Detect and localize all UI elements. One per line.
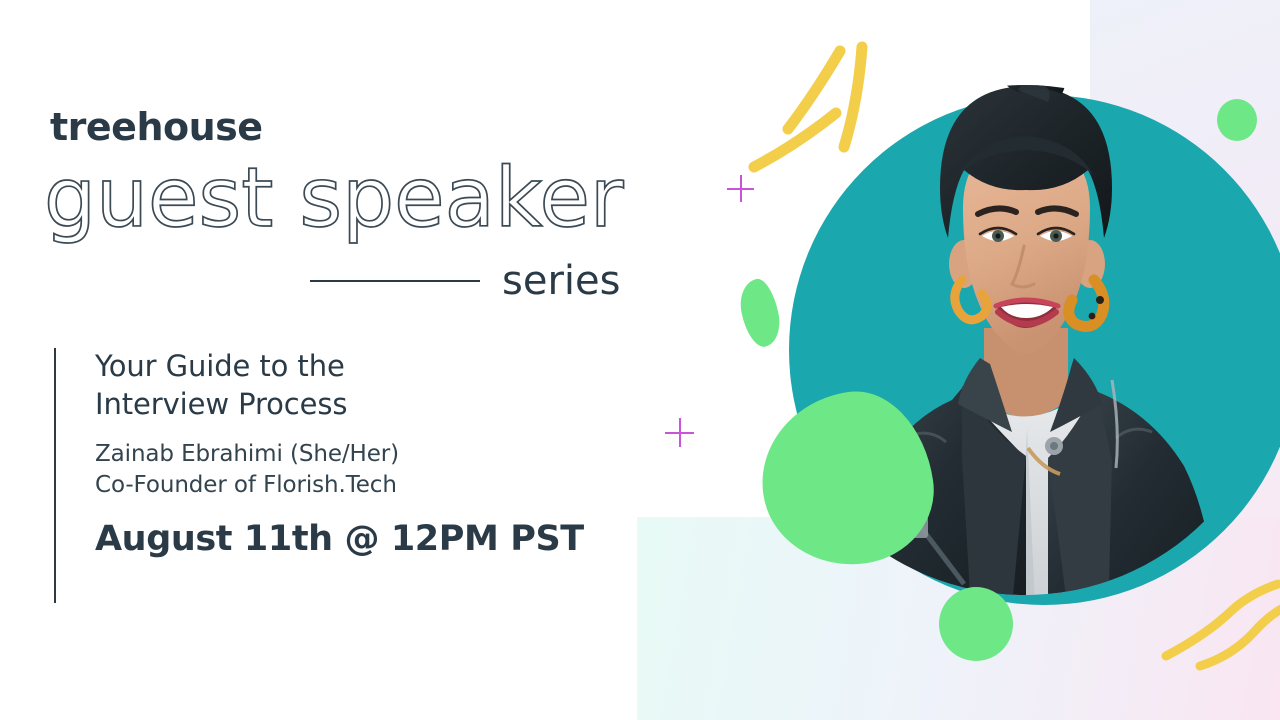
green-bean-shape (735, 276, 784, 350)
speaker-name: Zainab Ebrahimi (She/Her) (95, 439, 584, 470)
talk-title: Your Guide to the Interview Process (95, 348, 584, 424)
guest-speaker-promo-slide: treehouse guest speaker series Your Guid… (0, 0, 1280, 720)
event-datetime: August 11th @ 12PM PST (95, 522, 584, 557)
yellow-spark-icon (740, 25, 900, 195)
series-row: series (310, 258, 625, 304)
event-details-block: Your Guide to the Interview Process Zain… (54, 348, 584, 603)
treehouse-wordmark: treehouse (50, 108, 263, 146)
series-label: series (502, 261, 620, 301)
magenta-plus-icon-middle (665, 418, 694, 447)
speaker-role: Co-Founder of Florish.Tech (95, 470, 584, 501)
green-circle-bottom (939, 587, 1013, 661)
magenta-plus-icon-top (727, 175, 754, 202)
headline-outline-text: guest speaker (44, 158, 624, 240)
series-divider-rule (310, 280, 480, 282)
yellow-wave-icon (1160, 570, 1280, 690)
